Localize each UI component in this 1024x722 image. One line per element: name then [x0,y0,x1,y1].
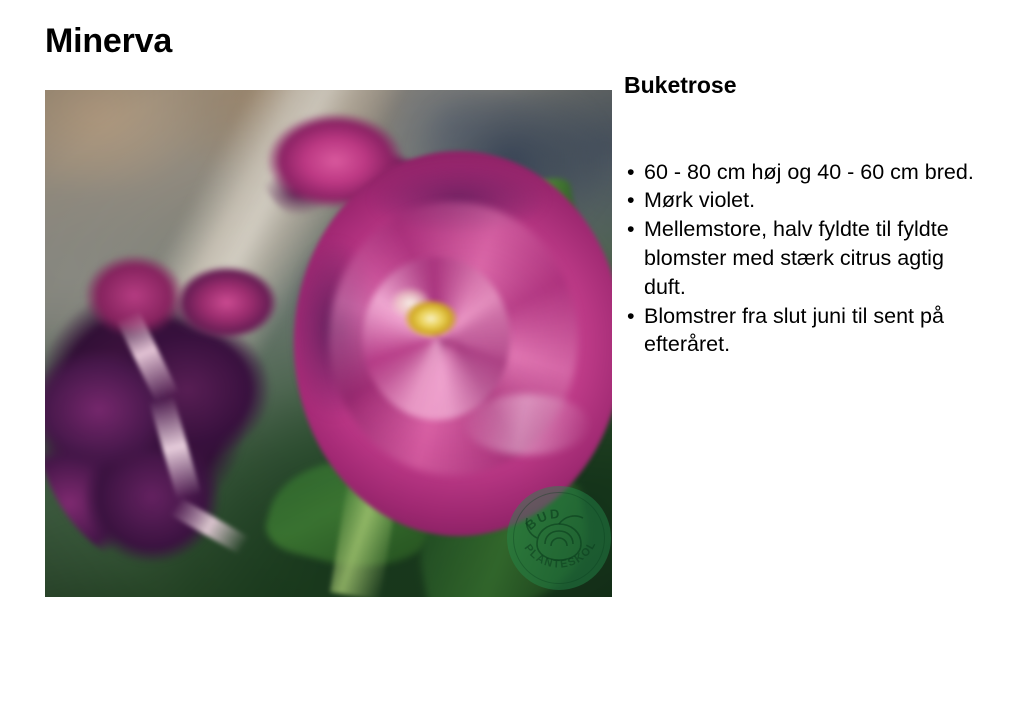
rose-type-heading: Buketrose [624,72,986,100]
slide-canvas: Minerva [0,0,1024,722]
list-item-label: Mellemstore, halv fyldte til fyldte blom… [644,217,949,299]
list-item: • 60 - 80 cm høj og 40 - 60 cm bred. [624,158,986,187]
page-title: Minerva [45,24,172,60]
list-item-label: Blomstrer fra slut juni til sent på efte… [644,304,944,357]
info-panel: Buketrose • 60 - 80 cm høj og 40 - 60 cm… [624,72,986,359]
bullet-marker: • [627,215,635,244]
svg-text:PLANTESKOLE: PLANTESKOLE [507,486,599,571]
nursery-watermark-icon: BUD PLANTESKOLE [507,486,611,590]
rose-photo: BUD PLANTESKOLE [45,90,612,597]
list-item-label: Mørk violet. [644,188,755,212]
bullet-marker: • [627,302,635,331]
list-item-label: 60 - 80 cm høj og 40 - 60 cm bred. [644,160,974,184]
rose-facts-list: • 60 - 80 cm høj og 40 - 60 cm bred. • M… [624,158,986,360]
list-item: • Blomstrer fra slut juni til sent på ef… [624,302,986,360]
list-item: • Mellemstore, halv fyldte til fyldte bl… [624,215,986,301]
list-item: • Mørk violet. [624,186,986,215]
bullet-marker: • [627,158,635,187]
bullet-marker: • [627,186,635,215]
